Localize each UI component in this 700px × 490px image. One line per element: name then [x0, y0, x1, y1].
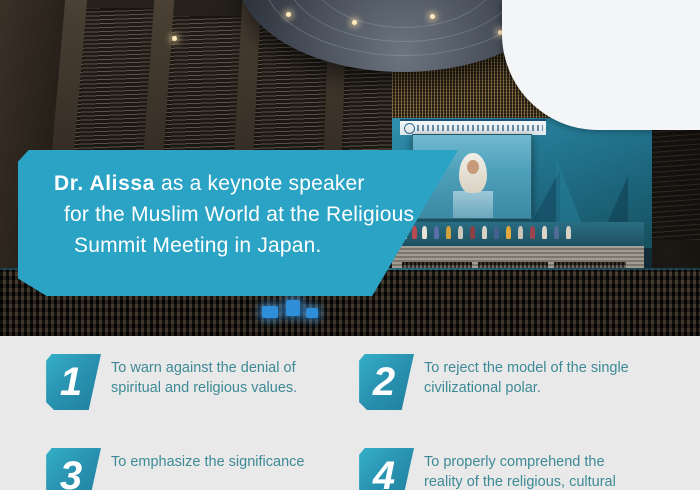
stage-attendee — [458, 226, 463, 239]
stage-attendee — [566, 226, 571, 239]
objective-badge: 4 — [358, 448, 414, 490]
ceiling-light — [286, 12, 291, 17]
objective-line-1: To emphasize the significance — [111, 454, 304, 470]
objective-text: To reject the model of the single civili… — [424, 354, 676, 398]
objective-item: 1 To warn against the denial of spiritua… — [45, 354, 365, 410]
stage-monitor-glow — [306, 308, 318, 318]
headline-line-3: Summit Meeting in Japan. — [54, 230, 414, 261]
objective-text: To warn against the denial of spiritual … — [111, 354, 363, 398]
stage-attendee — [530, 226, 535, 239]
objective-line-2: spiritual and religious values. — [111, 378, 363, 398]
objective-line-1: To properly comprehend the — [424, 454, 605, 470]
objective-number: 4 — [358, 448, 414, 490]
objective-number: 3 — [45, 448, 101, 490]
objective-text: To properly comprehend the reality of th… — [424, 448, 676, 490]
objective-badge: 3 — [45, 448, 101, 490]
stage-monitor-glow — [286, 300, 300, 316]
objective-badge: 1 — [45, 354, 101, 410]
stage-banner-text — [417, 125, 543, 131]
speaker-face — [467, 160, 479, 174]
headline-text-block: Dr. Alissa as a keynote speaker for the … — [54, 168, 414, 261]
ceiling-light — [430, 14, 435, 19]
objective-number: 1 — [45, 354, 101, 410]
objectives-section: 1 To warn against the denial of spiritua… — [0, 336, 700, 490]
objective-number: 2 — [358, 354, 414, 410]
objective-line-1: To reject the model of the single — [424, 360, 629, 376]
speaker-name: Dr. Alissa — [54, 172, 155, 195]
objective-line-2: reality of the religious, cultural — [424, 472, 676, 490]
objective-item: 4 To properly comprehend the reality of … — [358, 448, 678, 490]
stage-attendee — [506, 226, 511, 239]
poster-root: رابطة العالم الإسلامي MUSLIM WORLD LEAGU… — [0, 0, 700, 490]
stage-attendee — [446, 226, 451, 239]
headline-line-1: Dr. Alissa as a keynote speaker — [54, 168, 414, 199]
stage-attendee — [470, 226, 475, 239]
objective-item: 2 To reject the model of the single civi… — [358, 354, 678, 410]
stage-attendee — [412, 226, 417, 239]
stage-attendee — [494, 226, 499, 239]
objective-line-1: To warn against the denial of — [111, 360, 296, 376]
headline-line-1-rest: as a keynote speaker — [155, 172, 365, 195]
objective-text: To emphasize the significance — [111, 448, 363, 472]
stage-attendee — [422, 226, 427, 239]
stage-attendee — [434, 226, 439, 239]
podium — [453, 191, 493, 218]
objective-item: 3 To emphasize the significance — [45, 448, 365, 490]
stage-attendee — [482, 226, 487, 239]
headline-line-2: for the Muslim World at the Religious — [54, 199, 414, 230]
stage-attendee — [518, 226, 523, 239]
stage-monitor-glow — [262, 306, 278, 318]
ceiling-light — [172, 36, 177, 41]
stage-attendee — [542, 226, 547, 239]
summit-logo-icon — [404, 123, 415, 134]
ceiling-light — [352, 20, 357, 25]
stage-banner — [400, 119, 546, 135]
objective-line-2: civilizational polar. — [424, 378, 676, 398]
stage-attendee — [554, 226, 559, 239]
objective-badge: 2 — [358, 354, 414, 410]
